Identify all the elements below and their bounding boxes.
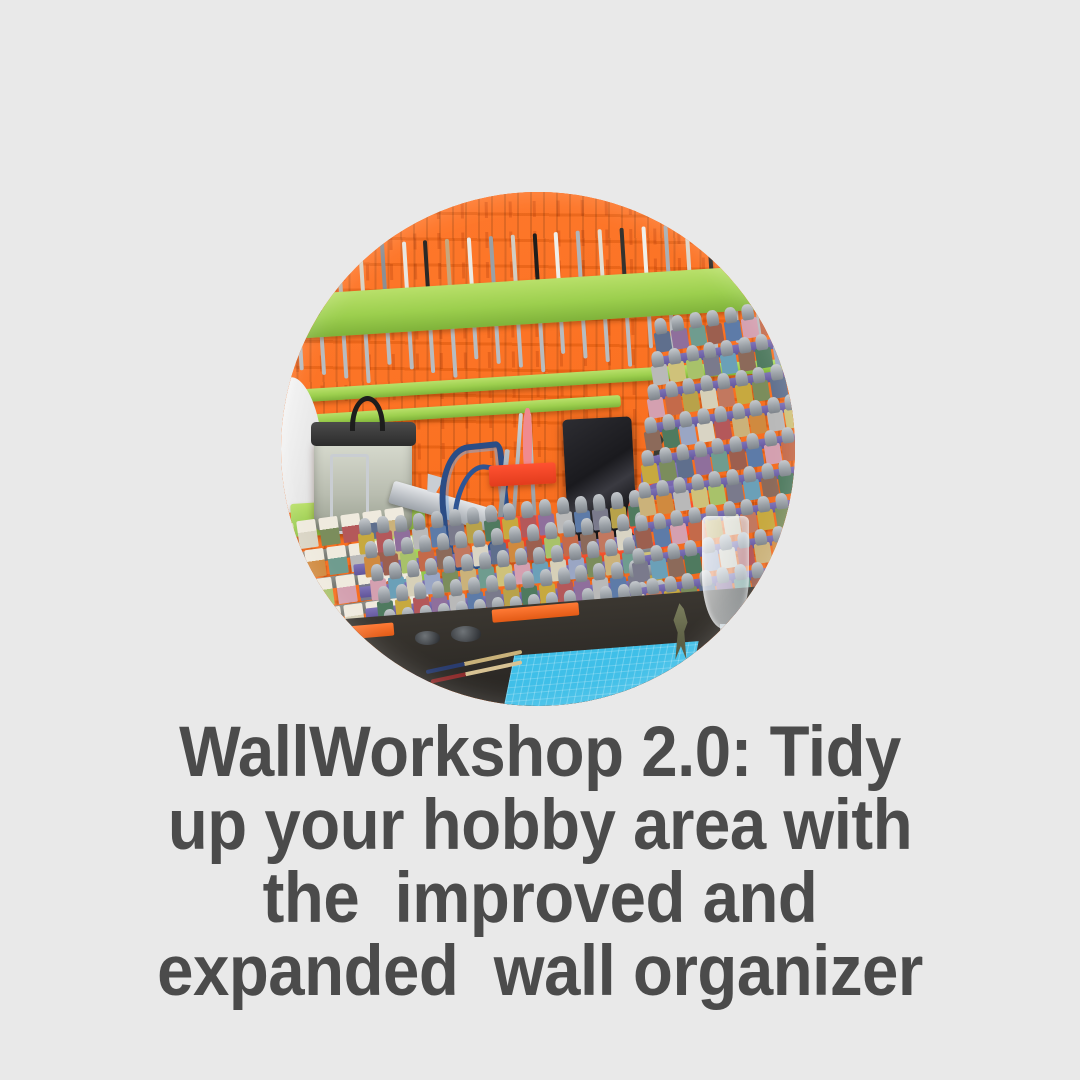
bottle-cap bbox=[419, 535, 432, 553]
bottle-cap bbox=[509, 525, 522, 543]
bottle-cap bbox=[731, 402, 745, 419]
bottle-cap bbox=[650, 350, 664, 367]
bottle-cap bbox=[746, 432, 760, 449]
bottle-cap bbox=[711, 438, 725, 455]
bottle-cap bbox=[664, 575, 678, 592]
bottle-cap bbox=[758, 301, 772, 318]
bottle-cap bbox=[717, 372, 731, 389]
bottle-cap bbox=[771, 525, 785, 542]
product-card: WallWorkshop 2.0: Tidy up your hobby are… bbox=[0, 0, 1080, 1080]
bottle-cap bbox=[728, 435, 742, 452]
bottle-cap bbox=[641, 449, 655, 466]
bottle-cap bbox=[763, 429, 777, 446]
bottle-cap bbox=[425, 557, 438, 575]
bottle-cap bbox=[610, 491, 623, 509]
bottle-cap bbox=[682, 377, 696, 394]
bottle-cap bbox=[467, 576, 480, 594]
product-photo-circle[interactable] bbox=[281, 192, 795, 706]
bottle-cap bbox=[696, 408, 710, 425]
bottle-cap bbox=[479, 552, 492, 570]
bottle-cap bbox=[485, 574, 498, 592]
bottle-cap bbox=[520, 501, 533, 519]
bottle-cap bbox=[688, 312, 702, 329]
bottle-cap bbox=[787, 361, 795, 378]
paint-pot bbox=[290, 580, 313, 610]
dropper-paint-bottle bbox=[769, 525, 790, 561]
bottle-cap bbox=[437, 533, 450, 551]
bottle-cap bbox=[401, 537, 414, 555]
bottle-cap bbox=[784, 394, 795, 411]
bottle-cap bbox=[778, 460, 792, 477]
paint-lid-disc-a bbox=[415, 631, 441, 644]
bottle-cap bbox=[569, 542, 582, 560]
bottle-cap bbox=[751, 561, 765, 578]
bottle-cap bbox=[793, 295, 795, 312]
paint-pot bbox=[304, 548, 327, 578]
bottle-cap bbox=[638, 482, 652, 499]
bottle-cap bbox=[671, 314, 685, 331]
bottle-cap bbox=[383, 539, 396, 557]
bottle-cap bbox=[455, 531, 468, 549]
bottle-cap bbox=[766, 397, 780, 414]
title-line-3: the improved and bbox=[43, 862, 1037, 935]
paint-pot bbox=[296, 519, 319, 549]
bottle-cap bbox=[781, 427, 795, 444]
paint-lid-disc-b bbox=[451, 626, 482, 641]
bottle-cap bbox=[755, 333, 769, 350]
bottle-cap bbox=[670, 509, 684, 526]
bottle-cap bbox=[681, 572, 695, 589]
bottle-cap bbox=[599, 516, 612, 534]
bottle-cap bbox=[757, 495, 771, 512]
bottle-cap bbox=[652, 512, 666, 529]
title-line-1: WallWorkshop 2.0: Tidy bbox=[43, 716, 1037, 789]
bottle-cap bbox=[413, 512, 426, 530]
bottle-cap bbox=[700, 375, 714, 392]
bottle-cap bbox=[533, 546, 546, 564]
bottle-cap bbox=[668, 347, 682, 364]
bottle-cap bbox=[431, 580, 444, 598]
bottle-cap bbox=[484, 505, 497, 523]
title-line-2: up your hobby area with bbox=[43, 789, 1037, 862]
bottle-cap bbox=[617, 514, 630, 532]
bottle-cap bbox=[448, 508, 461, 526]
bottle-cap bbox=[371, 563, 384, 581]
bottle-cap bbox=[395, 584, 408, 602]
bottle-cap bbox=[389, 561, 402, 579]
bottle-cap bbox=[658, 446, 672, 463]
bottle-cap bbox=[768, 558, 782, 575]
bottle-cap bbox=[679, 410, 693, 427]
bottle-cap bbox=[538, 499, 551, 517]
bottle-cap bbox=[714, 405, 728, 422]
water-glass bbox=[702, 516, 748, 629]
bottle-cap bbox=[687, 506, 701, 523]
bottle-cap bbox=[365, 540, 378, 558]
bottle-cap bbox=[673, 476, 687, 493]
bottle-cap bbox=[395, 514, 408, 532]
bottle-cap bbox=[720, 339, 734, 356]
bottle-cap bbox=[749, 399, 763, 416]
bottle-cap bbox=[632, 548, 646, 565]
bottle-cap bbox=[515, 548, 528, 566]
bottle-cap bbox=[685, 345, 699, 362]
bottle-cap bbox=[790, 328, 795, 345]
bottle-cap bbox=[539, 569, 552, 587]
bottle-cap bbox=[667, 542, 681, 559]
bottle-cap bbox=[646, 578, 660, 595]
bottle-cap bbox=[725, 468, 739, 485]
bottle-cap bbox=[557, 567, 570, 585]
bottle-cap bbox=[741, 303, 755, 320]
bottle-cap bbox=[521, 570, 534, 588]
bottle-cap bbox=[760, 462, 774, 479]
bottle-cap bbox=[723, 306, 737, 323]
bottle-cap bbox=[738, 336, 752, 353]
bottle-cap bbox=[581, 518, 594, 536]
bottle-cap bbox=[551, 544, 564, 562]
bottle-cap bbox=[413, 582, 426, 600]
paint-pot bbox=[326, 545, 349, 575]
bottle-cap bbox=[644, 416, 658, 433]
bottle-cap bbox=[754, 528, 768, 545]
bottle-cap bbox=[377, 586, 390, 604]
product-photo-scene bbox=[281, 192, 795, 706]
bottle-cap bbox=[491, 527, 504, 545]
bottle-cap bbox=[466, 506, 479, 524]
paint-pot bbox=[335, 574, 358, 604]
bottle-cap bbox=[752, 366, 766, 383]
bottle-cap bbox=[605, 538, 618, 556]
bottle-cap bbox=[556, 497, 569, 515]
bottle-cap bbox=[587, 540, 600, 558]
paint-pot bbox=[318, 516, 341, 546]
bottle-cap bbox=[775, 492, 789, 509]
bottle-cap bbox=[740, 498, 754, 515]
paint-pot bbox=[282, 551, 305, 581]
bottle-cap bbox=[653, 317, 667, 334]
bottle-cap bbox=[611, 561, 624, 579]
bottle-cap bbox=[773, 331, 787, 348]
bottle-cap bbox=[563, 520, 576, 538]
bottle-cap bbox=[703, 342, 717, 359]
bottle-cap bbox=[708, 471, 722, 488]
bottle-cap bbox=[574, 495, 587, 513]
bottle-cap bbox=[430, 510, 443, 528]
bottle-cap bbox=[545, 521, 558, 539]
bottle-cap bbox=[676, 443, 690, 460]
bottle-cap bbox=[359, 518, 372, 536]
dropper-paint-bottle bbox=[772, 492, 793, 528]
bottle-cap bbox=[693, 440, 707, 457]
bottle-cap bbox=[661, 413, 675, 430]
bottle-cap bbox=[503, 572, 516, 590]
title-line-4: expanded wall organizer bbox=[43, 935, 1037, 1008]
bottle-cap bbox=[665, 380, 679, 397]
bottle-cap bbox=[473, 529, 486, 547]
bottle-cap bbox=[407, 559, 420, 577]
bottle-cap bbox=[690, 473, 704, 490]
bottle-cap bbox=[706, 309, 720, 326]
bottle-cap bbox=[684, 539, 698, 556]
bottle-cap bbox=[649, 545, 663, 562]
bottle-cap bbox=[592, 493, 605, 511]
paint-pot bbox=[281, 522, 297, 552]
bottle-cap bbox=[502, 503, 515, 521]
bottle-cap bbox=[593, 563, 606, 581]
bottle-cap bbox=[449, 578, 462, 596]
bottle-cap bbox=[497, 550, 510, 568]
bottle-cap bbox=[734, 369, 748, 386]
page-title: WallWorkshop 2.0: Tidy up your hobby are… bbox=[0, 716, 1080, 1008]
bottle-cap bbox=[377, 516, 390, 534]
bottle-cap bbox=[776, 298, 790, 315]
bottle-cap bbox=[769, 364, 783, 381]
bottle-cap bbox=[635, 515, 649, 532]
bottle-cap bbox=[647, 383, 661, 400]
bottle-cap bbox=[461, 554, 474, 572]
bottle-cap bbox=[575, 565, 588, 583]
bottle-cap bbox=[743, 465, 757, 482]
bottle-cap bbox=[443, 555, 456, 573]
bottle-cap bbox=[655, 479, 669, 496]
bottle-cap bbox=[527, 523, 540, 541]
